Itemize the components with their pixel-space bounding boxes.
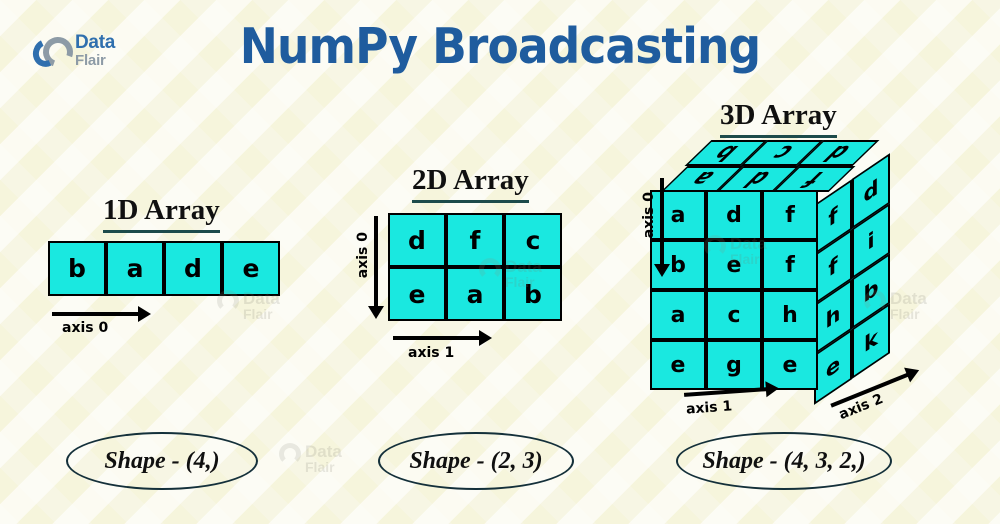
cell-2d-0-0: d (388, 213, 446, 267)
cell-1d-1: a (106, 241, 164, 296)
cell-3d-0-0: a (650, 190, 706, 240)
shape-label-1d: Shape - (4,) (66, 432, 258, 490)
cell-3d-0-2: f (762, 190, 818, 240)
cell-2d-1-0: e (388, 267, 446, 321)
axis0-arrow-2d (374, 216, 378, 308)
axis0-arrow-1d (52, 312, 140, 316)
cell-3d-1-1: e (706, 240, 762, 290)
cell-3d-2-2: h (762, 290, 818, 340)
page-title: NumPy Broadcasting (35, 18, 965, 75)
watermark-4: Data Flair (305, 443, 342, 474)
axis0-arrow-3d (660, 178, 664, 266)
axis1-label-3d: axis 1 (685, 398, 732, 417)
cell-3d-1-2: f (762, 240, 818, 290)
heading-1d-array: 1D Array (103, 194, 220, 233)
cell-2d-0-1: f (446, 213, 504, 267)
cell-3d-2-1: c (706, 290, 762, 340)
heading-2d-array: 2D Array (412, 164, 529, 203)
cell-2d-0-2: c (504, 213, 562, 267)
cell-1d-0: b (48, 241, 106, 296)
array-3d-group: b c d a d f f f h e d i b k a d f b e f … (650, 140, 950, 390)
axis1-arrow-2d (393, 336, 481, 340)
cell-3d-2-0: a (650, 290, 706, 340)
cell-3d-0-1: d (706, 190, 762, 240)
cell-1d-2: d (164, 241, 222, 296)
cell-2d-1-2: b (504, 267, 562, 321)
cell-2d-1-1: a (446, 267, 504, 321)
cell-1d-3: e (222, 241, 280, 296)
cell-3d-3-1: g (706, 340, 762, 390)
shape-label-2d: Shape - (2, 3) (378, 432, 574, 490)
axis1-label-2d: axis 1 (408, 345, 454, 361)
heading-3d-array: 3D Array (720, 99, 837, 138)
axis0-label-2d: axis 0 (355, 232, 371, 278)
shape-label-3d: Shape - (4, 3, 2,) (676, 432, 892, 490)
cell-3d-3-0: e (650, 340, 706, 390)
axis0-label-3d: axis 0 (641, 192, 657, 238)
axis0-label-1d: axis 0 (62, 320, 108, 336)
